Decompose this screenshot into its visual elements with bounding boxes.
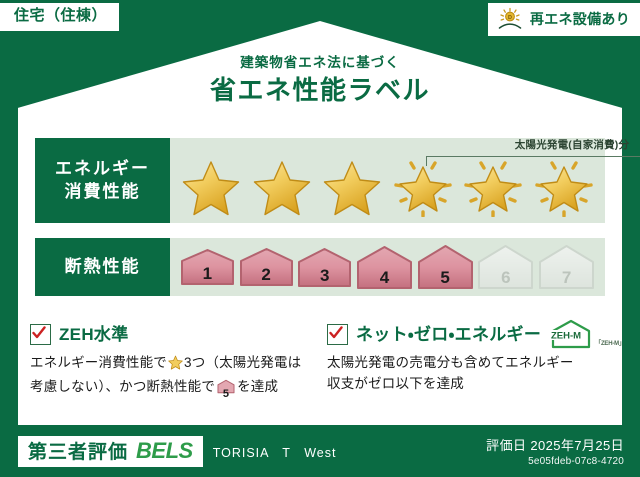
net-zero-text-line2: 収支がゼロ以下を達成 <box>327 374 607 395</box>
insulation-level-2-number: 2 <box>239 266 294 283</box>
footer-bels-section: 第三者評価 BELS TORISIA T West <box>18 436 336 467</box>
zeh-m-logo-caption: 「ZEH-M」 <box>595 341 625 349</box>
zeh-standard-block: ZEH水準 エネルギー消費性能で3つ（太陽光発電は考慮しない）、かつ断熱性能で5… <box>30 322 310 401</box>
insulation-level-6-number: 6 <box>477 269 534 286</box>
star-icon <box>168 355 183 377</box>
insulation-level-1-number: 1 <box>180 265 235 282</box>
zeh-standard-title: ZEH水準 <box>59 326 129 343</box>
renewable-equipment-label: 再エネ設備あり <box>530 9 630 29</box>
insulation-performance-label: 断熱性能 <box>35 238 170 296</box>
heading-subtitle: 建築物省エネ法に基づく <box>0 56 640 70</box>
evaluation-uid: 5e05fdeb-07c8-4720 <box>486 455 624 469</box>
check-icon <box>327 324 348 345</box>
energy-label-line1: エネルギー <box>55 158 150 181</box>
energy-label-line2: 消費性能 <box>65 181 141 204</box>
energy-performance-label: エネルギー 消費性能 <box>35 138 170 223</box>
heading-title: 省エネ性能ラベル <box>0 77 640 103</box>
housing-type-badge: 住宅（住棟） <box>0 3 119 31</box>
check-icon <box>30 324 51 345</box>
insulation-level-4-number: 4 <box>356 269 413 286</box>
net-zero-energy-title: ネット・ゼロ・エネルギー <box>356 326 541 343</box>
insulation-performance-body: 1 2 3 4 <box>170 238 605 296</box>
insulation-level-scale: 1 2 3 4 <box>170 238 605 296</box>
energy-performance-row: エネルギー 消費性能 太陽光発電(自家消費)分 <box>35 138 605 223</box>
net-zero-text-line1: 太陽光発電の売電分も含めてエネルギー <box>327 353 607 374</box>
housing-type-label: 住宅（住棟） <box>14 7 107 24</box>
svg-text:ZEH-M: ZEH-M <box>551 331 581 342</box>
insulation-level-5: 5 <box>417 244 474 290</box>
insulation-level-5-icon-number: 5 <box>217 389 235 400</box>
star-item <box>251 157 313 219</box>
star-item-solar <box>462 157 524 219</box>
zeh-m-logo-icon: ZEH-M 「ZEH-M」 <box>549 319 625 349</box>
insulation-level-3-number: 3 <box>297 267 352 284</box>
zeh-text-part3: を達成 <box>237 379 278 394</box>
insulation-level-5-number: 5 <box>417 269 474 286</box>
sun-icon: D <box>496 7 524 31</box>
svg-text:D: D <box>508 15 512 21</box>
insulation-level-5-icon: 5 <box>217 379 235 401</box>
star-item <box>180 157 242 219</box>
bels-badge: 第三者評価 BELS <box>18 436 203 467</box>
insulation-level-6: 6 <box>477 244 534 290</box>
net-zero-energy-header: ネット・ゼロ・エネルギー ZEH-M 「ZEH-M」 <box>327 322 607 346</box>
insulation-level-3: 3 <box>297 247 352 288</box>
net-zero-energy-block: ネット・ゼロ・エネルギー ZEH-M 「ZEH-M」 太陽光発電の売電分も含めて… <box>327 322 607 395</box>
energy-performance-body: 太陽光発電(自家消費)分 <box>170 138 605 223</box>
insulation-level-7: 7 <box>538 244 595 290</box>
insulation-level-4: 4 <box>356 245 413 290</box>
label-heading: 建築物省エネ法に基づく 省エネ性能ラベル <box>0 56 640 103</box>
star-item-solar <box>533 157 595 219</box>
renewable-equipment-badge: D 再エネ設備あり <box>488 3 640 36</box>
energy-label-card: 住宅（住棟） D 再エネ設備あり 建築物省エネ法に基づ <box>0 0 640 477</box>
zeh-standard-description: エネルギー消費性能で3つ（太陽光発電は考慮しない）、かつ断熱性能で5を達成 <box>30 353 310 401</box>
insulation-performance-row: 断熱性能 1 <box>35 238 605 296</box>
insulation-level-1: 1 <box>180 248 235 286</box>
evaluation-date: 評価日 2025年7月25日 <box>486 438 624 455</box>
star-rating <box>170 157 605 221</box>
star-item <box>321 157 383 219</box>
insulation-level-7-number: 7 <box>538 269 595 286</box>
zeh-standard-header: ZEH水準 <box>30 322 310 346</box>
bels-label: BELS <box>136 440 193 462</box>
project-name: TORISIA T West <box>213 442 337 461</box>
insulation-level-2: 2 <box>239 247 294 287</box>
zeh-text-part1: エネルギー消費性能で <box>30 355 167 370</box>
insulation-label-text: 断熱性能 <box>65 256 141 279</box>
footer-evaluation-info: 評価日 2025年7月25日 5e05fdeb-07c8-4720 <box>486 438 624 469</box>
star-item-solar <box>392 157 454 219</box>
net-zero-energy-description: 太陽光発電の売電分も含めてエネルギー 収支がゼロ以下を達成 <box>327 353 607 395</box>
third-party-label: 第三者評価 <box>28 443 128 462</box>
